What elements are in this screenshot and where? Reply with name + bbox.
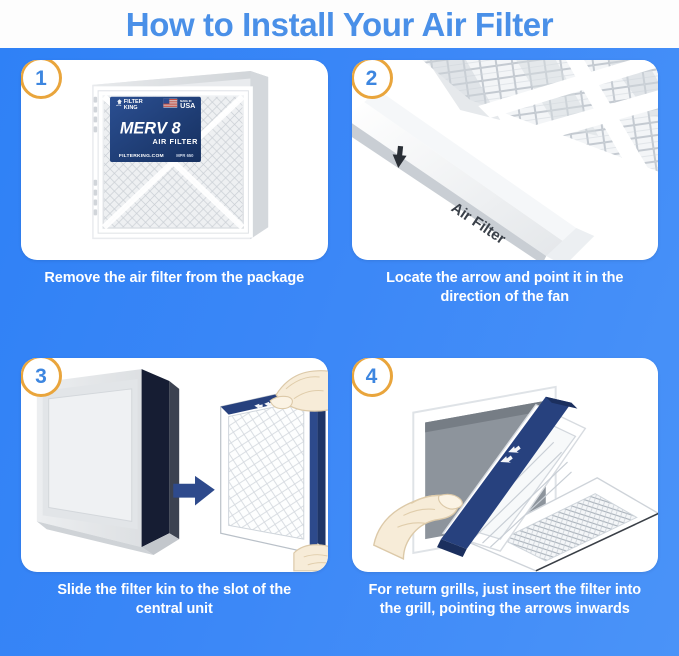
header: How to Install Your Air Filter bbox=[0, 0, 679, 48]
step-3-card: 3 bbox=[21, 358, 328, 572]
air-filter-panel bbox=[221, 387, 326, 553]
step-4-caption: For return grills, just insert the filte… bbox=[352, 581, 659, 619]
step-3-illustration bbox=[21, 358, 328, 572]
hand-bottom-icon bbox=[294, 545, 328, 571]
website-text: FILTERKING.COM bbox=[119, 153, 164, 159]
step-1-card: FILTER KING MADE IN bbox=[21, 60, 328, 260]
steps-grid: FILTER KING MADE IN bbox=[0, 48, 679, 656]
step-panel-4: 4 For return grills, just insert the fil… bbox=[352, 358, 659, 648]
step-2-badge: 2 bbox=[352, 60, 393, 99]
step-2-card: Air Filter 2 bbox=[352, 60, 659, 260]
mpr-rating-text: MPR 650 bbox=[176, 153, 194, 158]
product-type-text: AIR FILTER bbox=[152, 137, 198, 146]
step-1-caption: Remove the air filter from the package bbox=[21, 269, 328, 288]
step-panel-2: Air Filter 2 Locate the arrow and point … bbox=[352, 60, 659, 350]
page-title: How to Install Your Air Filter bbox=[126, 8, 553, 41]
step-3-caption: Slide the filter kin to the slot of the … bbox=[21, 581, 328, 619]
step-panel-1: FILTER KING MADE IN bbox=[21, 60, 328, 350]
step-4-illustration bbox=[352, 358, 659, 572]
usa-flag-icon bbox=[163, 99, 177, 108]
merv-rating-text: MERV 8 bbox=[120, 119, 182, 137]
step-4-card: 4 bbox=[352, 358, 659, 572]
step-4-badge: 4 bbox=[352, 358, 393, 397]
filter-label: FILTER KING MADE IN bbox=[110, 97, 201, 162]
infographic-page: How to Install Your Air Filter bbox=[0, 0, 679, 656]
step-2-photo: Air Filter bbox=[352, 60, 659, 260]
step-panel-3: 3 Slide the filter kin to the slot of th… bbox=[21, 358, 328, 648]
country-text: USA bbox=[180, 101, 196, 110]
step-2-caption: Locate the arrow and point it in the dir… bbox=[352, 269, 659, 307]
step-1-photo: FILTER KING MADE IN bbox=[21, 60, 328, 260]
central-unit-slot bbox=[37, 369, 179, 555]
brand-king-text: KING bbox=[124, 105, 138, 111]
